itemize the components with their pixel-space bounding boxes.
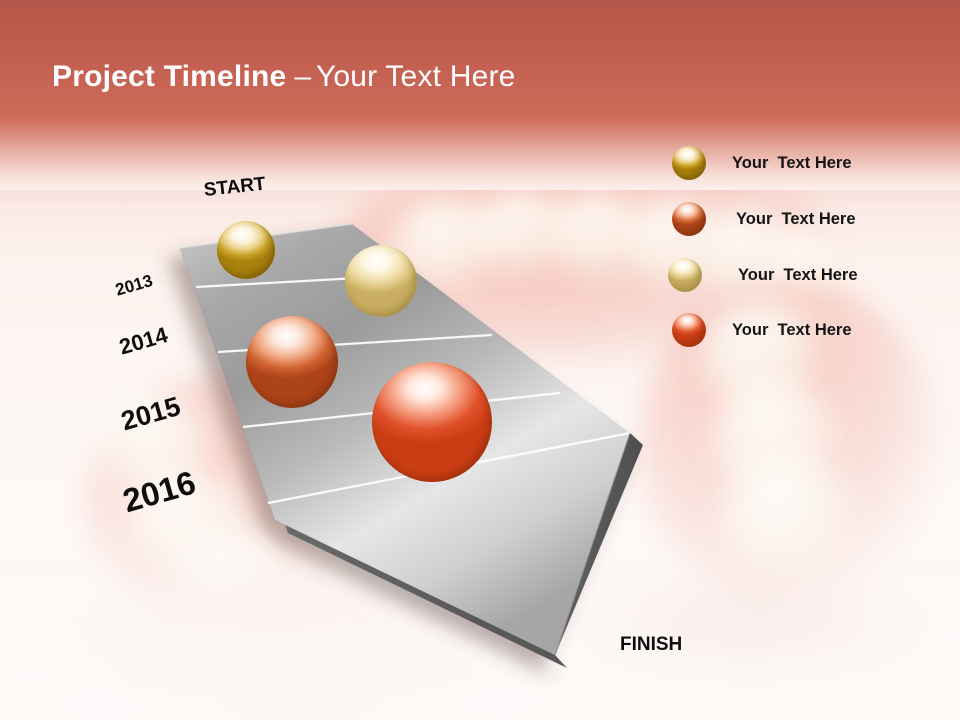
legend-item-label: Your Text Here [732,154,852,173]
milestone-sphere-2013[interactable] [217,221,275,279]
legend-item[interactable]: Your Text Here [672,202,856,236]
sphere-icon [672,146,706,180]
sphere-icon [672,313,706,347]
page-title: Project Timeline– Your Text Here [52,60,516,94]
legend-item[interactable]: Your Text Here [672,146,852,180]
finish-label: FINISH [620,634,682,656]
legend-item-label: Your Text Here [736,210,856,229]
milestone-sphere-2015[interactable] [246,316,338,408]
sphere-icon [668,258,702,292]
milestone-sphere-2014[interactable] [345,245,417,317]
legend-item[interactable]: Your Text Here [668,258,858,292]
legend-item-label: Your Text Here [732,321,852,340]
legend-item[interactable]: Your Text Here [672,313,852,347]
title-main: Project Timeline [52,60,286,93]
legend-item-label: Your Text Here [738,266,858,285]
title-subtitle: Your Text Here [316,60,516,93]
milestone-sphere-2016[interactable] [372,362,492,482]
slide-canvas: Project Timeline– Your Text Here [0,0,960,720]
sphere-icon [672,202,706,236]
title-dash: – [286,60,311,93]
